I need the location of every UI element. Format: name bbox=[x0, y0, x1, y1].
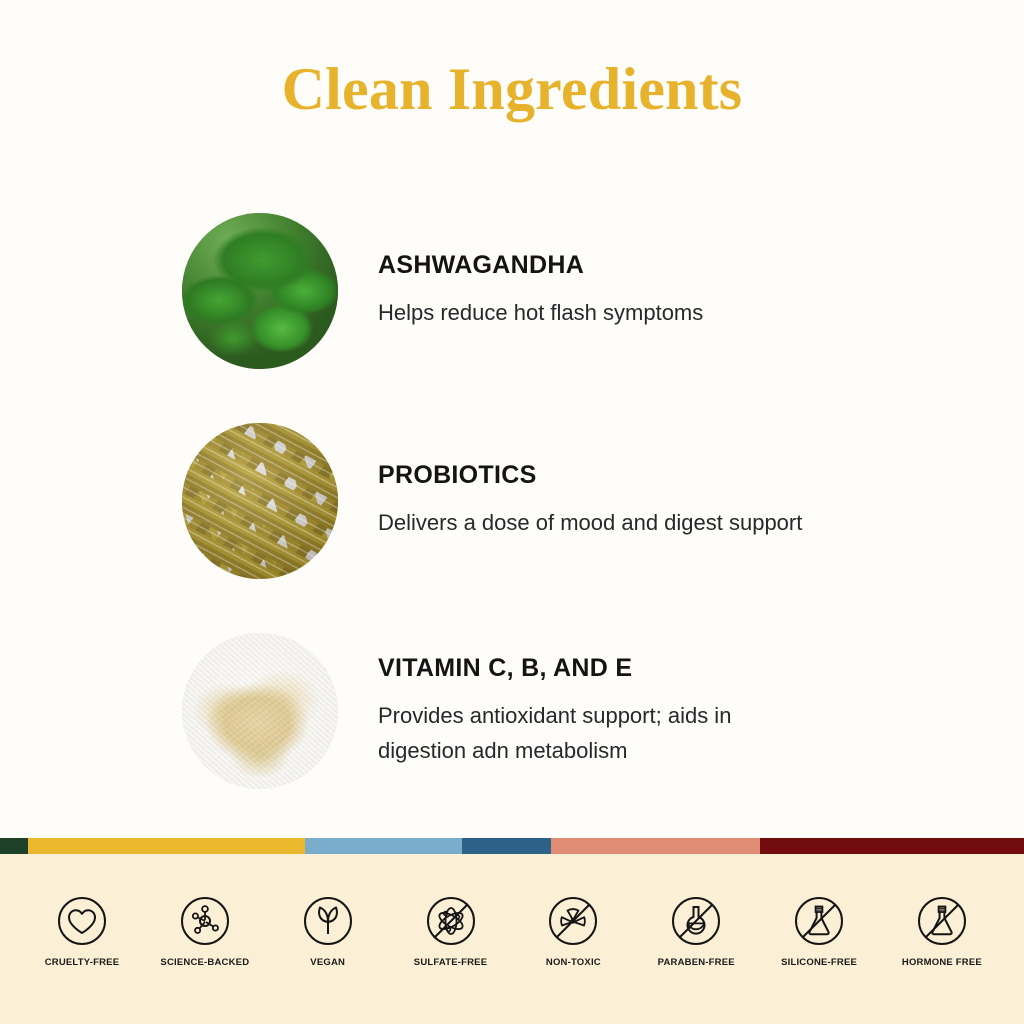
page-title: Clean Ingredients bbox=[0, 58, 1024, 121]
badge-label: SILICONE-FREE bbox=[781, 957, 857, 968]
ingredient-item: ASHWAGANDHA Helps reduce hot flash sympt… bbox=[0, 186, 1024, 396]
stripe-segment-3 bbox=[305, 838, 462, 854]
ingredient-item: VITAMIN C, B, AND E Provides antioxidant… bbox=[0, 606, 1024, 816]
stripe-segment-5 bbox=[551, 838, 760, 854]
badge-label: HORMONE FREE bbox=[902, 957, 982, 968]
badge-label: SULFATE-FREE bbox=[414, 957, 487, 968]
ingredient-description: Helps reduce hot flash symptoms bbox=[378, 296, 703, 330]
brand-color-stripe bbox=[0, 838, 1024, 854]
ingredient-description: Delivers a dose of mood and digest suppo… bbox=[378, 506, 802, 540]
badge-label: VEGAN bbox=[310, 957, 345, 968]
heart-icon bbox=[57, 896, 107, 946]
ingredient-description: Provides antioxidant support; aids in di… bbox=[378, 699, 798, 767]
powder-photo-art bbox=[182, 633, 338, 789]
certification-badge-band: CRUELTY-FREE SCIENCE-BACKED VEGAN bbox=[0, 854, 1024, 1024]
badge-label: SCIENCE-BACKED bbox=[160, 957, 249, 968]
ingredient-name: VITAMIN C, B, AND E bbox=[378, 654, 798, 683]
badge-label: PARABEN-FREE bbox=[658, 957, 735, 968]
round-flask-crossed-icon bbox=[671, 896, 721, 946]
ingredient-text-block: PROBIOTICS Delivers a dose of mood and d… bbox=[378, 461, 802, 540]
badge-sulfate-free: SULFATE-FREE bbox=[395, 896, 507, 968]
leaf-plant-icon bbox=[303, 896, 353, 946]
stripe-segment-2 bbox=[28, 838, 305, 854]
badge-silicone-free: SILICONE-FREE bbox=[763, 896, 875, 968]
atom-crossed-icon bbox=[426, 896, 476, 946]
erlenmeyer-flask-crossed-icon bbox=[917, 896, 967, 946]
badge-label: NON-TOXIC bbox=[546, 957, 601, 968]
vitamin-powder-photo bbox=[182, 633, 338, 789]
badge-hormone-free: HORMONE FREE bbox=[886, 896, 998, 968]
badge-cruelty-free: CRUELTY-FREE bbox=[26, 896, 138, 968]
badge-vegan: VEGAN bbox=[272, 896, 384, 968]
stripe-segment-4 bbox=[462, 838, 551, 854]
stripe-segment-1 bbox=[0, 838, 28, 854]
radiation-crossed-icon bbox=[548, 896, 598, 946]
ingredient-name: PROBIOTICS bbox=[378, 461, 802, 490]
capsules-photo-art bbox=[182, 423, 338, 579]
page-header: Clean Ingredients bbox=[0, 0, 1024, 121]
erlenmeyer-flask-crossed-icon bbox=[794, 896, 844, 946]
badge-paraben-free: PARABEN-FREE bbox=[640, 896, 752, 968]
ingredients-list: ASHWAGANDHA Helps reduce hot flash sympt… bbox=[0, 186, 1024, 816]
stripe-segment-6 bbox=[760, 838, 1024, 854]
ingredient-name: ASHWAGANDHA bbox=[378, 251, 703, 280]
ingredient-text-block: ASHWAGANDHA Helps reduce hot flash sympt… bbox=[378, 251, 703, 330]
ingredient-item: PROBIOTICS Delivers a dose of mood and d… bbox=[0, 396, 1024, 606]
probiotic-capsules-photo bbox=[182, 423, 338, 579]
badge-non-toxic: NON-TOXIC bbox=[517, 896, 629, 968]
leaf-photo-art bbox=[182, 213, 338, 369]
badge-label: CRUELTY-FREE bbox=[45, 957, 120, 968]
molecule-icon bbox=[180, 896, 230, 946]
ingredient-text-block: VITAMIN C, B, AND E Provides antioxidant… bbox=[378, 654, 798, 767]
badge-science-backed: SCIENCE-BACKED bbox=[149, 896, 261, 968]
ashwagandha-leaves-photo bbox=[182, 213, 338, 369]
